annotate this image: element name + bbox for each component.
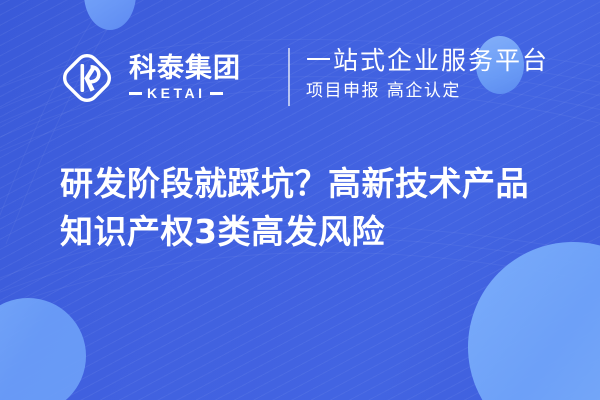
vertical-divider-icon bbox=[288, 48, 290, 106]
slogan-block: 一站式企业服务平台 项目申报 高企认定 bbox=[306, 46, 549, 101]
decorative-circle-top-left bbox=[84, 0, 136, 30]
banner-header: 科泰集团 KETAI 一站式企业服务平台 项目申报 高企认定 bbox=[0, 40, 600, 112]
brand-wordmark: 科泰集团 KETAI bbox=[129, 55, 241, 101]
headline-title: 研发阶段就踩坑？高新技术产品知识产权3类高发风险 bbox=[60, 160, 560, 256]
ketai-kp-diamond-logo-icon bbox=[57, 48, 117, 108]
slogan-primary: 一站式企业服务平台 bbox=[306, 46, 549, 77]
promo-banner: 科泰集团 KETAI 一站式企业服务平台 项目申报 高企认定 研发阶段就踩坑？高… bbox=[0, 0, 600, 400]
decorative-circle-bottom-right bbox=[468, 242, 600, 400]
brand-logo-lockup[interactable]: 科泰集团 KETAI bbox=[57, 48, 241, 108]
brand-name-latin-row: KETAI bbox=[129, 85, 241, 101]
decorative-circle-bottom-left bbox=[0, 298, 86, 400]
brand-name-latin: KETAI bbox=[147, 85, 205, 101]
logo-rule-left-icon bbox=[129, 92, 142, 95]
logo-rule-right-icon bbox=[210, 92, 223, 95]
brand-name-cn: 科泰集团 bbox=[129, 55, 241, 83]
slogan-secondary: 项目申报 高企认定 bbox=[306, 81, 549, 101]
